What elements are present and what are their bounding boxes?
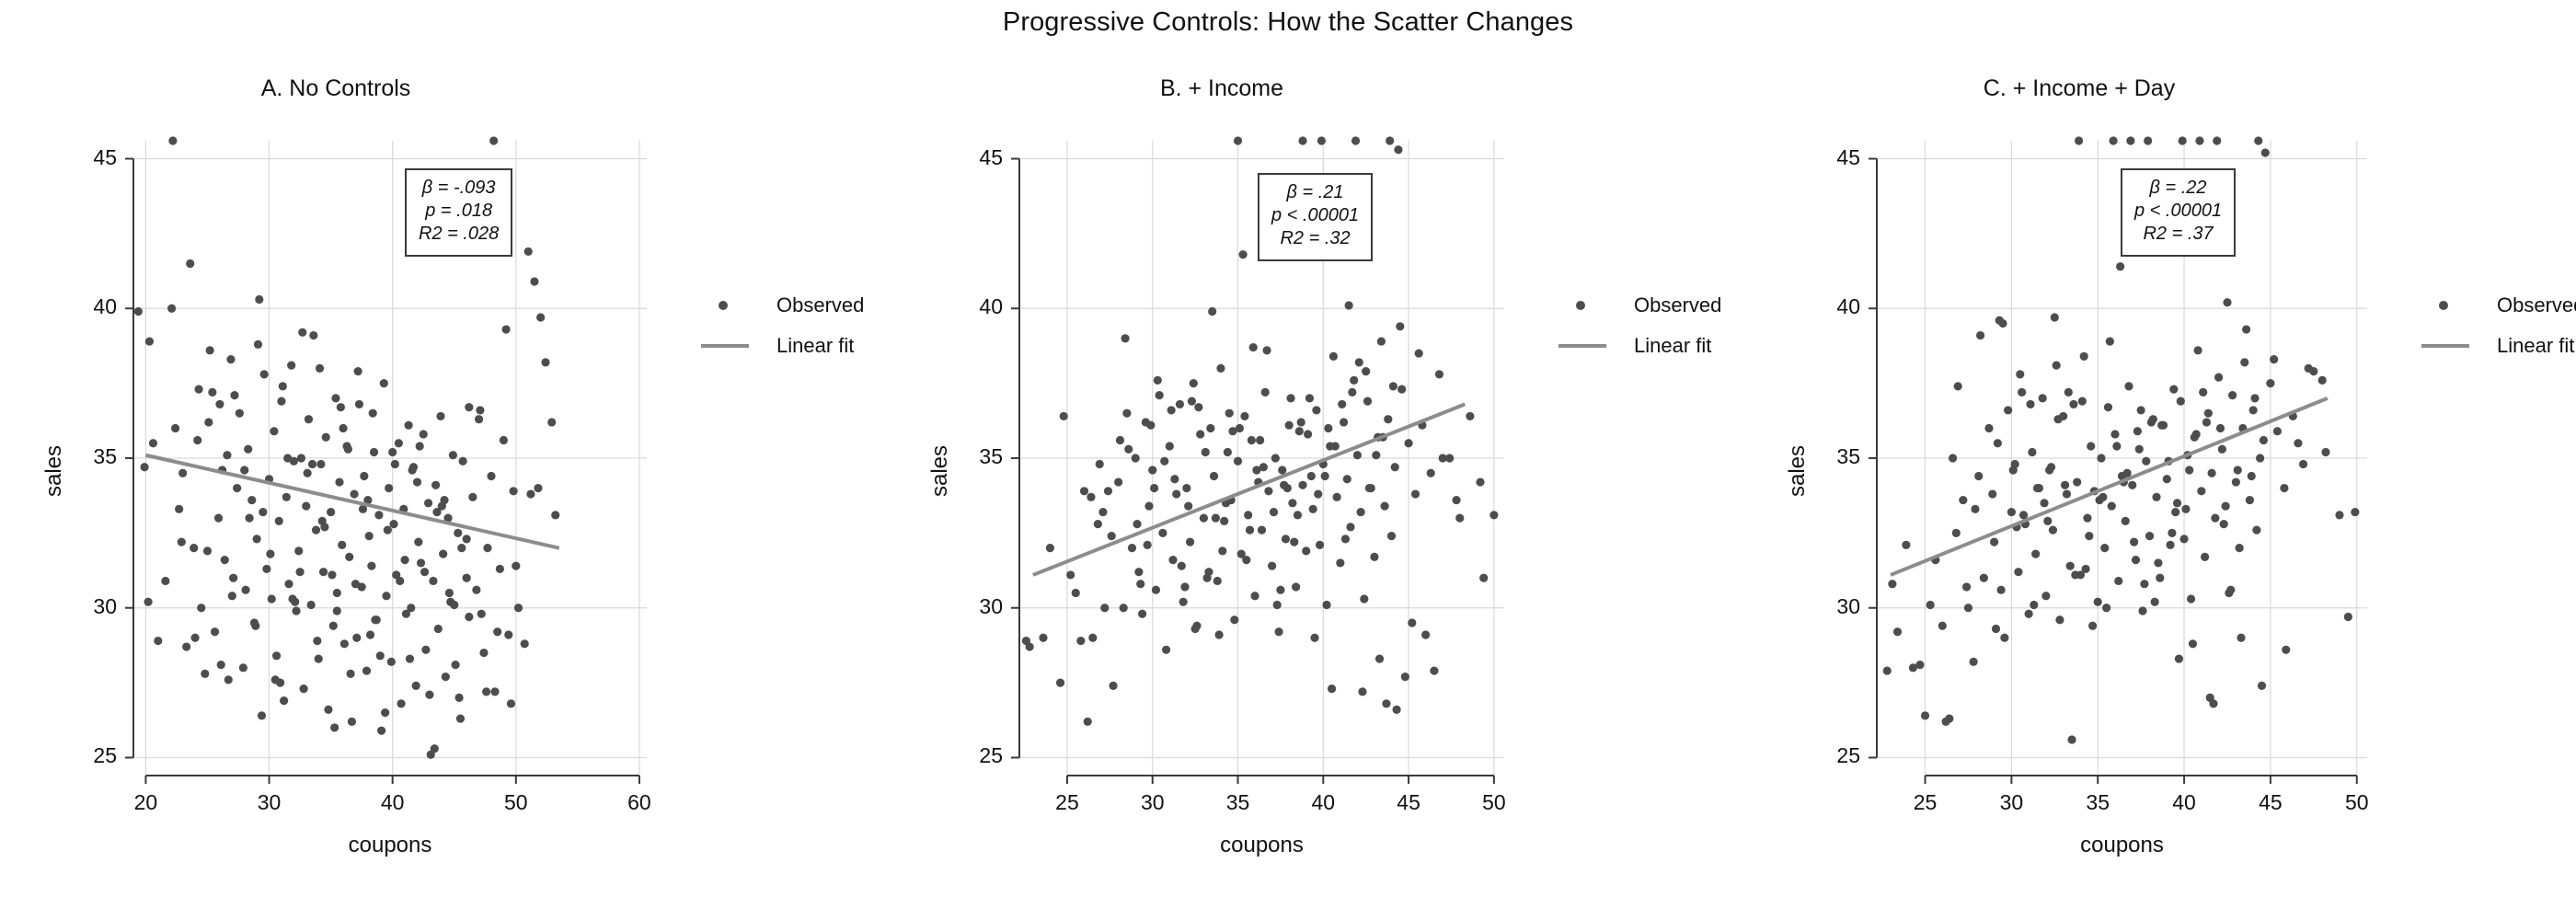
data-point — [2067, 735, 2076, 743]
data-point — [1167, 406, 1176, 414]
data-point — [247, 496, 256, 504]
data-point — [2175, 654, 2183, 662]
data-point — [2122, 517, 2130, 525]
data-point — [420, 430, 428, 438]
data-point — [536, 313, 545, 321]
data-point — [2114, 577, 2122, 585]
data-point — [1321, 472, 1329, 480]
data-point — [134, 307, 143, 316]
data-point — [2000, 634, 2008, 642]
data-point — [431, 481, 440, 489]
legend-label-observed: Observed — [2497, 293, 2576, 317]
data-point — [1902, 541, 1910, 549]
x-tick-label: 30 — [233, 790, 306, 815]
data-point — [1215, 630, 1224, 638]
data-point — [2040, 499, 2048, 507]
data-point — [1331, 442, 1340, 450]
linear-fit-line-icon — [1555, 326, 1616, 366]
data-point — [482, 687, 490, 696]
data-point — [2075, 136, 2083, 144]
data-point — [1210, 472, 1218, 480]
data-point — [1240, 412, 1248, 420]
data-point — [456, 715, 465, 723]
data-point — [2168, 529, 2176, 537]
y-tick-label: 40 — [1803, 294, 1860, 319]
data-point — [1971, 505, 1979, 513]
x-axis-label: coupons — [1019, 833, 1504, 858]
data-point — [496, 565, 504, 573]
stat-beta: β = .21 — [1271, 181, 1359, 204]
data-point — [1984, 424, 1993, 432]
data-point — [1394, 145, 1402, 154]
data-point — [1146, 421, 1155, 430]
data-point — [1234, 457, 1242, 466]
data-point — [171, 424, 179, 432]
data-point — [1152, 586, 1160, 594]
data-point — [2250, 394, 2259, 402]
data-point — [395, 439, 403, 447]
data-point — [2108, 501, 2116, 510]
data-point — [1109, 682, 1117, 690]
data-point — [144, 598, 152, 606]
data-point — [1114, 477, 1122, 486]
data-point — [1397, 385, 1406, 394]
data-point — [2018, 388, 2026, 397]
y-tick-label: 35 — [946, 444, 1003, 469]
data-point — [2083, 513, 2091, 522]
x-tick-label: 25 — [1030, 790, 1104, 815]
data-point — [1969, 658, 1977, 666]
data-point — [1938, 622, 1947, 630]
data-point — [1212, 513, 1220, 522]
data-point — [1455, 513, 1464, 522]
data-point — [1225, 409, 1234, 418]
data-point — [1439, 454, 1447, 462]
data-point — [1268, 562, 1276, 570]
data-point — [2220, 520, 2228, 528]
data-point — [382, 592, 390, 600]
data-point — [2266, 379, 2274, 387]
data-point — [1964, 604, 1972, 612]
data-point — [1292, 582, 1300, 591]
data-point — [1230, 615, 1238, 624]
data-point — [259, 508, 267, 516]
legend-label-observed: Observed — [1634, 293, 1721, 317]
y-tick-label: 45 — [1803, 145, 1860, 170]
data-point — [1384, 415, 1392, 423]
y-tick-label: 30 — [1803, 594, 1860, 619]
data-point — [2142, 457, 2150, 466]
data-point — [445, 589, 454, 597]
data-point — [215, 400, 224, 408]
data-point — [1264, 487, 1272, 495]
data-point — [324, 706, 332, 714]
data-point — [313, 637, 321, 645]
data-point — [344, 445, 352, 454]
data-point — [1312, 406, 1320, 414]
legend-label-observed: Observed — [776, 293, 864, 317]
data-point — [1949, 454, 1957, 462]
data-point — [1116, 436, 1124, 444]
data-point — [2063, 489, 2071, 498]
panel-1: A. No Controls25303540452030405060salesc… — [0, 0, 874, 920]
data-point — [439, 550, 447, 558]
data-point — [1060, 412, 1068, 420]
data-point — [483, 544, 491, 552]
data-point — [1988, 489, 1996, 498]
data-point — [434, 625, 443, 633]
data-point — [1990, 538, 1998, 546]
data-point — [2094, 598, 2102, 606]
data-point — [1415, 349, 1423, 357]
data-point — [380, 379, 388, 387]
data-point — [1066, 570, 1075, 579]
data-point — [370, 448, 378, 456]
data-point — [233, 484, 241, 492]
data-point — [2185, 466, 2193, 474]
y-tick-label: 40 — [60, 294, 117, 319]
data-point — [2189, 639, 2197, 648]
data-point — [1952, 529, 1961, 537]
y-tick-label: 40 — [946, 294, 1003, 319]
data-point — [328, 570, 336, 579]
data-point — [521, 639, 529, 648]
data-point — [472, 586, 480, 594]
data-point — [190, 544, 198, 552]
stat-r2: R2 = .028 — [419, 223, 499, 246]
data-point — [510, 487, 518, 495]
data-point — [381, 708, 389, 717]
data-point — [302, 501, 310, 510]
x-tick-label: 40 — [1286, 790, 1360, 815]
data-point — [1386, 136, 1394, 144]
data-point — [476, 406, 484, 414]
data-point — [2137, 406, 2145, 414]
data-point — [305, 415, 313, 423]
data-point — [254, 340, 262, 349]
data-point — [405, 421, 413, 430]
data-point — [2007, 508, 2016, 516]
data-point — [1915, 661, 1924, 669]
data-point — [1328, 684, 1336, 693]
data-point — [2201, 553, 2209, 561]
data-point — [493, 627, 501, 636]
data-point — [1888, 580, 1896, 588]
data-point — [2260, 436, 2268, 444]
data-point — [1120, 604, 1128, 612]
data-point — [1391, 463, 1399, 471]
linear-fit-line — [1033, 404, 1465, 575]
data-point — [2204, 409, 2213, 418]
data-point — [1204, 568, 1213, 576]
data-point — [1396, 322, 1404, 330]
data-point — [388, 448, 397, 456]
data-point — [294, 546, 303, 555]
data-point — [1976, 331, 1984, 339]
data-point — [1096, 460, 1104, 468]
stat-r2: R2 = .37 — [2134, 223, 2222, 246]
data-point — [2100, 544, 2109, 552]
data-point — [514, 604, 523, 612]
data-point — [272, 651, 281, 660]
data-point — [416, 442, 424, 450]
data-point — [223, 451, 231, 459]
data-point — [454, 529, 462, 537]
y-tick-label: 35 — [1803, 444, 1860, 469]
data-point — [1941, 718, 1949, 726]
data-point — [1302, 546, 1310, 555]
data-point — [1076, 637, 1085, 645]
data-point — [1188, 397, 1196, 406]
data-point — [1329, 352, 1338, 361]
data-point — [182, 642, 190, 650]
data-point — [1182, 484, 1190, 492]
data-point — [385, 484, 393, 492]
data-point — [1258, 526, 1266, 535]
data-point — [262, 565, 270, 573]
data-point — [1294, 511, 1302, 519]
data-point — [2270, 355, 2278, 363]
data-point — [1389, 382, 1397, 390]
data-point — [2344, 613, 2352, 621]
data-point — [412, 682, 420, 690]
data-point — [270, 427, 278, 435]
y-tick-label: 30 — [946, 594, 1003, 619]
data-point — [335, 477, 343, 486]
linear-fit-line-icon — [2418, 326, 2478, 366]
data-point — [2097, 454, 2105, 462]
panel-title: C. + Income + Day — [1757, 75, 2401, 102]
data-point — [2154, 558, 2162, 567]
data-point — [1377, 337, 1386, 345]
data-point — [1365, 484, 1374, 492]
data-point — [1098, 508, 1107, 516]
x-tick-label: 45 — [1372, 790, 1445, 815]
data-point — [1310, 634, 1318, 642]
data-point — [2258, 682, 2266, 690]
data-point — [2335, 511, 2343, 519]
data-point — [1466, 412, 1474, 420]
data-point — [429, 577, 437, 585]
data-point — [229, 574, 237, 582]
data-point — [512, 562, 520, 570]
data-point — [459, 457, 467, 466]
data-point — [384, 526, 392, 535]
data-point — [2104, 403, 2112, 411]
data-point — [1340, 418, 1348, 426]
data-point — [308, 460, 316, 468]
data-point — [319, 568, 328, 576]
data-point — [2009, 466, 2018, 474]
data-point — [346, 670, 354, 678]
data-point — [1926, 601, 1935, 609]
data-point — [1184, 501, 1192, 510]
data-point — [1088, 634, 1097, 642]
data-point — [2053, 362, 2061, 370]
data-point — [1144, 501, 1153, 510]
data-point — [1259, 463, 1268, 471]
data-point — [1309, 505, 1317, 513]
data-point — [1370, 553, 1378, 561]
data-point — [1273, 601, 1282, 609]
stat-p: p < .00001 — [1271, 204, 1359, 227]
data-point — [298, 328, 306, 337]
data-point — [2218, 445, 2226, 454]
linear-fit-line — [1891, 398, 2328, 575]
data-point — [1271, 454, 1280, 462]
data-point — [2110, 136, 2118, 144]
data-point — [1179, 598, 1188, 606]
data-point — [1435, 370, 1443, 378]
panel-2: B. + Income2530354045253035404550salesco… — [874, 0, 1748, 920]
data-point — [2181, 505, 2190, 513]
data-point — [1122, 409, 1131, 418]
data-point — [524, 247, 533, 256]
data-point — [1158, 529, 1167, 537]
data-point — [2088, 622, 2097, 630]
data-point — [2049, 526, 2057, 535]
y-axis-label: sales — [927, 445, 953, 497]
data-point — [408, 466, 417, 474]
data-point — [1104, 487, 1112, 495]
data-point — [1196, 430, 1204, 438]
data-point — [2223, 298, 2231, 306]
data-point — [2078, 397, 2087, 406]
data-point — [1392, 706, 1400, 714]
data-point — [2152, 493, 2160, 501]
plot-area — [133, 141, 647, 776]
data-point — [414, 538, 422, 546]
data-point — [1084, 718, 1092, 726]
data-point — [190, 634, 199, 642]
data-point — [329, 622, 338, 630]
data-point — [2261, 148, 2270, 156]
data-point — [1317, 136, 1326, 144]
data-point — [400, 556, 408, 564]
data-point — [1489, 511, 1498, 519]
data-point — [1108, 532, 1116, 540]
legend-label-linear-fit: Linear fit — [2497, 334, 2574, 358]
data-point — [1322, 601, 1330, 609]
stat-r2: R2 = .32 — [1271, 227, 1359, 250]
data-point — [2140, 580, 2148, 588]
data-point — [338, 541, 346, 549]
data-point — [2246, 496, 2254, 504]
data-point — [339, 424, 347, 432]
data-point — [360, 472, 368, 480]
data-point — [1246, 526, 1254, 535]
data-point — [1381, 501, 1389, 510]
stats-annotation-box: β = -.093p = .018R2 = .028 — [405, 168, 512, 257]
data-point — [451, 661, 459, 669]
data-point — [1178, 562, 1186, 570]
data-point — [534, 484, 542, 492]
data-point — [2321, 448, 2329, 456]
data-point — [2016, 370, 2024, 378]
data-point — [204, 418, 213, 426]
data-point — [1404, 439, 1412, 447]
data-point — [1286, 394, 1294, 402]
data-point — [214, 513, 223, 522]
data-point — [228, 592, 236, 600]
data-point — [1980, 574, 1988, 582]
data-point — [431, 744, 439, 753]
data-point — [479, 649, 488, 657]
data-point — [1954, 382, 1962, 390]
data-point — [406, 654, 414, 662]
data-point — [297, 454, 305, 462]
data-point — [2179, 535, 2188, 543]
data-point — [1357, 508, 1365, 516]
data-point — [425, 691, 433, 699]
stats-annotation-box: β = .22p < .00001R2 = .37 — [2121, 168, 2236, 257]
data-point — [280, 696, 288, 705]
data-point — [490, 687, 499, 696]
data-point — [287, 362, 295, 370]
data-point — [2066, 562, 2075, 570]
data-point — [1362, 367, 1370, 375]
data-point — [178, 538, 186, 546]
data-point — [2187, 594, 2195, 603]
x-tick-label: 50 — [479, 790, 553, 815]
data-point — [316, 460, 325, 468]
observed-marker-icon — [1555, 285, 1616, 326]
data-point — [1250, 592, 1259, 600]
data-point — [1156, 391, 1164, 399]
data-point — [2192, 430, 2201, 438]
data-point — [2197, 487, 2205, 495]
data-point — [304, 469, 312, 477]
data-point — [376, 651, 385, 660]
data-point — [1224, 448, 1232, 456]
data-point — [1430, 666, 1438, 674]
data-point — [1220, 517, 1228, 525]
data-point — [2039, 394, 2047, 402]
data-point — [149, 439, 157, 447]
x-axis-label: coupons — [133, 833, 647, 858]
data-point — [221, 556, 229, 564]
data-point — [337, 403, 345, 411]
data-point — [1382, 699, 1390, 707]
observed-marker-icon — [2418, 285, 2478, 326]
data-point — [327, 508, 335, 516]
data-point — [2081, 565, 2089, 573]
data-point — [2351, 508, 2359, 516]
stats-annotation-box: β = .21p < .00001R2 = .32 — [1258, 173, 1373, 261]
data-point — [2242, 325, 2250, 333]
data-point — [275, 517, 283, 525]
data-point — [465, 613, 473, 621]
data-point — [244, 445, 252, 454]
data-point — [253, 535, 261, 543]
data-point — [449, 451, 457, 459]
data-point — [2171, 508, 2179, 516]
figure-root: Progressive Controls: How the Scatter Ch… — [0, 0, 2576, 920]
data-point — [1274, 627, 1282, 636]
data-point — [330, 723, 339, 731]
data-point — [2193, 346, 2202, 354]
data-point — [2173, 499, 2181, 507]
data-point — [1100, 604, 1109, 612]
data-point — [1176, 400, 1184, 408]
data-point — [1297, 418, 1305, 426]
data-point — [2294, 439, 2302, 447]
data-point — [2047, 463, 2055, 471]
y-tick-label: 45 — [946, 145, 1003, 170]
data-point — [2209, 699, 2217, 707]
stat-beta: β = -.093 — [419, 177, 499, 200]
data-point — [377, 727, 385, 735]
